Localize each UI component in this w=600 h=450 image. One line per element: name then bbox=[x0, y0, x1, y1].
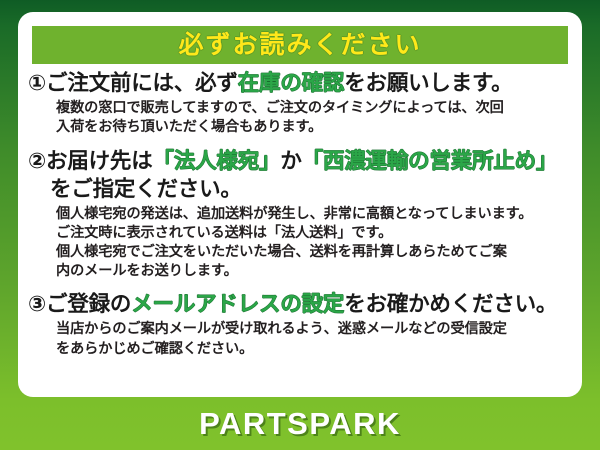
notice-item-3-heading-part-3: をお確かめください。 bbox=[344, 292, 557, 316]
notice-item-3-subtext: 当店からのご案内メールが受け取れるよう、迷惑メールなどの受信設定 をあらかじめご… bbox=[28, 320, 574, 358]
notice-item-2-heading-part-3: か bbox=[280, 149, 301, 173]
notice-item-2-heading-part-1: お届け先は bbox=[46, 149, 153, 173]
notice-item-1-sub-line-1: 複数の窓口で販売してますので、ご注文のタイミングによっては、次回 bbox=[56, 99, 574, 118]
notice-item-3-sub-line-2: をあらかじめご確認ください。 bbox=[56, 340, 574, 359]
notice-item-2-sub-line-4: 内のメールをお送りします。 bbox=[56, 262, 574, 281]
notice-banner: 必ずお読みください ①ご注文前には、必ず在庫の確認をお願いします。 複数の窓口で… bbox=[0, 0, 600, 450]
notice-item-2-number: ② bbox=[28, 149, 46, 173]
notice-item-2-heading: ②お届け先は「法人様宛」か「西濃運輸の営業所止め」 をご指定ください。 bbox=[28, 148, 574, 202]
notice-item-1-subtext: 複数の窓口で販売してますので、ご注文のタイミングによっては、次回 入荷をお待ち頂… bbox=[28, 99, 574, 137]
notice-item-2-subtext: 個人様宅宛の発送は、追加送料が発生し、非常に高額となってしまいます。 ご注文時に… bbox=[28, 205, 574, 282]
notice-item-3-heading-part-1: ご登録の bbox=[46, 292, 131, 316]
notice-item-3-number: ③ bbox=[28, 292, 46, 316]
brand-logo-text: PARTSPARK bbox=[199, 408, 401, 439]
notice-item-3-sub-line-1: 当店からのご案内メールが受け取れるよう、迷惑メールなどの受信設定 bbox=[56, 320, 574, 339]
header-title: 必ずお読みください bbox=[178, 33, 421, 58]
notice-item-2-heading-line2: をご指定ください。 bbox=[28, 176, 574, 203]
notice-item-2-sub-line-3: 個人様宅宛でご注文をいただいた場合、送料を再計算しあらためてご案 bbox=[56, 243, 574, 262]
notice-item-3-heading-emphasis: メールアドレスの設定 bbox=[131, 292, 344, 316]
notice-item-1-heading-part-3: をお願いします。 bbox=[344, 71, 512, 95]
notice-item-1-heading: ①ご注文前には、必ず在庫の確認をお願いします。 bbox=[28, 70, 574, 97]
notice-item-2: ②お届け先は「法人様宛」か「西濃運輸の営業所止め」 をご指定ください。 個人様宅… bbox=[28, 148, 574, 281]
notice-item-1: ①ご注文前には、必ず在庫の確認をお願いします。 複数の窓口で販売してますので、ご… bbox=[28, 70, 574, 137]
notice-item-3-heading: ③ご登録のメールアドレスの設定をお確かめください。 bbox=[28, 291, 574, 318]
notice-item-2-sub-line-1: 個人様宅宛の発送は、追加送料が発生し、非常に高額となってしまいます。 bbox=[56, 205, 574, 224]
notice-list: ①ご注文前には、必ず在庫の確認をお願いします。 複数の窓口で販売してますので、ご… bbox=[18, 70, 582, 359]
notice-card: 必ずお読みください ①ご注文前には、必ず在庫の確認をお願いします。 複数の窓口で… bbox=[18, 12, 582, 397]
notice-item-2-heading-emphasis-1: 「法人様宛」 bbox=[153, 149, 281, 173]
header-band: 必ずお読みください bbox=[32, 26, 568, 64]
notice-item-3: ③ご登録のメールアドレスの設定をお確かめください。 当店からのご案内メールが受け… bbox=[28, 291, 574, 358]
notice-item-2-heading-emphasis-2: 「西濃運輸の営業所止め」 bbox=[302, 149, 558, 173]
footer-brand: PARTSPARK bbox=[0, 397, 600, 450]
notice-item-1-heading-emphasis: 在庫の確認 bbox=[238, 71, 345, 95]
notice-item-2-sub-line-2: ご注文時に表示されている送料は「法人送料」です。 bbox=[56, 224, 574, 243]
notice-item-1-sub-line-2: 入荷をお待ち頂いただく場合もあります。 bbox=[56, 118, 574, 137]
notice-item-1-heading-part-1: ご注文前には、必ず bbox=[46, 71, 238, 95]
notice-item-1-number: ① bbox=[28, 71, 46, 95]
